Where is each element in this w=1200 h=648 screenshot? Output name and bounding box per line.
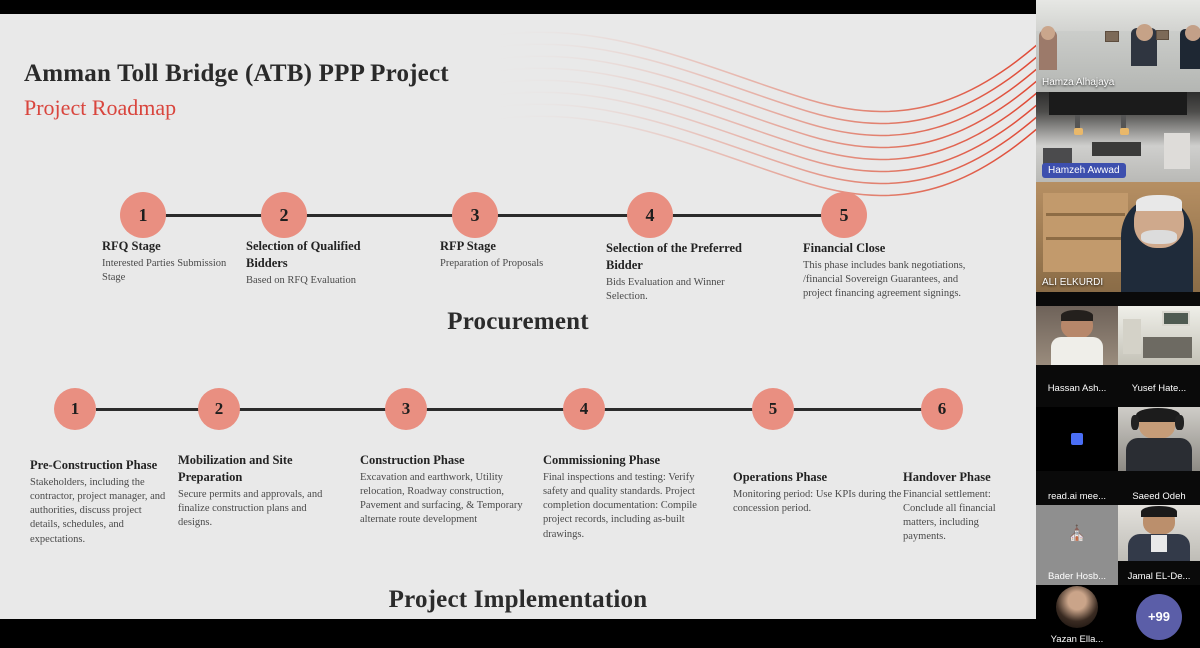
node-number: 6 bbox=[938, 399, 947, 419]
implementation-section-label: Project Implementation bbox=[0, 586, 1036, 614]
implementation-step-2: Mobilization and Site Preparation Secure… bbox=[178, 452, 343, 530]
procurement-section-label: Procurement bbox=[0, 308, 1036, 336]
meeting-screen-share-view: Amman Toll Bridge (ATB) PPP Project Proj… bbox=[0, 0, 1200, 648]
node-number: 2 bbox=[280, 205, 289, 226]
participant-name: Yazan Ella... bbox=[1036, 634, 1118, 645]
participant-tile-yusef-hate[interactable]: Yusef Hate... bbox=[1118, 292, 1200, 397]
step-title: Pre-Construction Phase bbox=[30, 457, 170, 474]
read-ai-bot-placeholder bbox=[1036, 407, 1118, 471]
meeting-room-icon: ⛪ bbox=[1068, 524, 1087, 543]
procurement-timeline: 1 2 3 4 5 RFQ Stage Interested Parties S… bbox=[0, 14, 1036, 344]
participant-video-feed bbox=[1118, 407, 1200, 471]
step-title: Commissioning Phase bbox=[543, 452, 715, 469]
overflow-participants-tile[interactable]: +99 bbox=[1118, 585, 1200, 648]
participant-name: Hamza Alhajaya bbox=[1042, 77, 1114, 88]
procurement-node-3[interactable]: 3 bbox=[452, 192, 498, 238]
node-number: 4 bbox=[646, 205, 655, 226]
implementation-step-5: Operations Phase Monitoring period: Use … bbox=[733, 469, 905, 516]
participant-tile-read-ai-meeting[interactable]: read.ai mee... bbox=[1036, 397, 1118, 505]
participant-tile-row-readai-saeed[interactable]: read.ai mee... Saeed Odeh bbox=[1036, 397, 1200, 505]
participant-video-feed bbox=[1118, 306, 1200, 365]
participant-tile-saeed-odeh[interactable]: Saeed Odeh bbox=[1118, 397, 1200, 505]
participant-video-rail[interactable]: Hamza Alhajaya Hamzeh Awwad bbox=[1036, 0, 1200, 648]
participant-video-feed bbox=[1036, 306, 1118, 365]
step-description: Excavation and earthwork, Utility reloca… bbox=[360, 471, 530, 528]
participant-tile-row-yazan-overflow[interactable]: Yazan Ella... +99 bbox=[1036, 585, 1200, 648]
procurement-node-1[interactable]: 1 bbox=[120, 192, 166, 238]
step-title: Selection of Qualified Bidders bbox=[246, 238, 401, 272]
procurement-node-4[interactable]: 4 bbox=[627, 192, 673, 238]
participant-tile-bader-hosb[interactable]: ⛪ Bader Hosb... bbox=[1036, 505, 1118, 585]
participant-tile-row-hassan-yusef[interactable]: Hassan Ash... Yusef Hate... bbox=[1036, 292, 1200, 397]
participant-placeholder: ⛪ bbox=[1036, 505, 1118, 561]
participant-tile-row-bader-jamal[interactable]: ⛪ Bader Hosb... Jamal EL-De... bbox=[1036, 505, 1200, 585]
step-description: Secure permits and approvals, and finali… bbox=[178, 488, 343, 531]
implementation-step-6: Handover Phase Financial settlement: Con… bbox=[903, 469, 1023, 545]
step-description: Preparation of Proposals bbox=[440, 257, 560, 271]
step-title: RFQ Stage bbox=[102, 238, 232, 255]
participant-name: Saeed Odeh bbox=[1118, 491, 1200, 502]
implementation-node-1[interactable]: 1 bbox=[54, 388, 96, 430]
procurement-step-2: Selection of Qualified Bidders Based on … bbox=[246, 238, 401, 288]
implementation-node-6[interactable]: 6 bbox=[921, 388, 963, 430]
procurement-step-4: Selection of the Preferred Bidder Bids E… bbox=[606, 240, 756, 304]
participant-tile-ali-elkurdi[interactable]: ALI ELKURDI bbox=[1036, 182, 1200, 292]
procurement-step-1: RFQ Stage Interested Parties Submission … bbox=[102, 238, 232, 285]
step-title: Handover Phase bbox=[903, 469, 1023, 486]
implementation-node-3[interactable]: 3 bbox=[385, 388, 427, 430]
step-description: Bids Evaluation and Winner Selection. bbox=[606, 276, 756, 304]
participant-tile-yazan-ella[interactable]: Yazan Ella... bbox=[1036, 585, 1118, 648]
participant-video-feed bbox=[1036, 182, 1200, 292]
participant-video-feed bbox=[1118, 505, 1200, 561]
participant-name: Hassan Ash... bbox=[1036, 383, 1118, 394]
step-title: Mobilization and Site Preparation bbox=[178, 452, 343, 486]
overflow-count-badge[interactable]: +99 bbox=[1136, 594, 1182, 640]
implementation-step-1: Pre-Construction Phase Stakeholders, inc… bbox=[30, 457, 170, 547]
step-description: Stakeholders, including the contractor, … bbox=[30, 476, 170, 547]
step-description: Monitoring period: Use KPIs during the c… bbox=[733, 488, 905, 516]
overflow-wrap: +99 bbox=[1118, 585, 1200, 648]
node-number: 2 bbox=[215, 399, 224, 419]
implementation-node-5[interactable]: 5 bbox=[752, 388, 794, 430]
node-number: 5 bbox=[840, 205, 849, 226]
participant-name: Jamal EL-De... bbox=[1118, 571, 1200, 582]
step-description: Financial settlement: Conclude all finan… bbox=[903, 488, 1023, 545]
step-description: Interested Parties Submission Stage bbox=[102, 257, 232, 285]
participant-tile-jamal-el-de[interactable]: Jamal EL-De... bbox=[1118, 505, 1200, 585]
read-ai-icon bbox=[1071, 433, 1083, 445]
participant-tile-hamza-alhajaya[interactable]: Hamza Alhajaya bbox=[1036, 0, 1200, 92]
participant-name: Yusef Hate... bbox=[1118, 383, 1200, 394]
node-number: 4 bbox=[580, 399, 589, 419]
step-description: Final inspections and testing: Verify sa… bbox=[543, 471, 715, 542]
implementation-timeline: 1 2 3 4 5 6 Pre-Construction Phase Stake… bbox=[0, 344, 1036, 574]
node-number: 1 bbox=[71, 399, 80, 419]
participant-tile-hassan-ash[interactable]: Hassan Ash... bbox=[1036, 292, 1118, 397]
avatar bbox=[1056, 586, 1098, 628]
participant-name: Bader Hosb... bbox=[1036, 571, 1118, 582]
implementation-node-2[interactable]: 2 bbox=[198, 388, 240, 430]
step-title: Financial Close bbox=[803, 240, 978, 257]
node-number: 5 bbox=[769, 399, 778, 419]
step-title: Construction Phase bbox=[360, 452, 530, 469]
procurement-node-2[interactable]: 2 bbox=[261, 192, 307, 238]
step-description: Based on RFQ Evaluation bbox=[246, 274, 401, 288]
implementation-node-4[interactable]: 4 bbox=[563, 388, 605, 430]
procurement-step-5: Financial Close This phase includes bank… bbox=[803, 240, 978, 301]
participant-name: Hamzeh Awwad bbox=[1042, 163, 1126, 178]
step-description: This phase includes bank negotiations, /… bbox=[803, 259, 978, 302]
participant-avatar-wrap bbox=[1036, 585, 1118, 628]
procurement-node-5[interactable]: 5 bbox=[821, 192, 867, 238]
node-number: 1 bbox=[139, 205, 148, 226]
step-title: Operations Phase bbox=[733, 469, 905, 486]
participant-tile-hamzeh-awwad[interactable]: Hamzeh Awwad bbox=[1036, 92, 1200, 182]
procurement-step-3: RFP Stage Preparation of Proposals bbox=[440, 238, 560, 271]
implementation-step-4: Commissioning Phase Final inspections an… bbox=[543, 452, 715, 542]
participant-name: ALI ELKURDI bbox=[1042, 277, 1103, 288]
implementation-step-3: Construction Phase Excavation and earthw… bbox=[360, 452, 530, 528]
step-title: Selection of the Preferred Bidder bbox=[606, 240, 756, 274]
presentation-slide: Amman Toll Bridge (ATB) PPP Project Proj… bbox=[0, 14, 1036, 619]
node-number: 3 bbox=[471, 205, 480, 226]
node-number: 3 bbox=[402, 399, 411, 419]
participant-name: read.ai mee... bbox=[1036, 491, 1118, 502]
step-title: RFP Stage bbox=[440, 238, 560, 255]
